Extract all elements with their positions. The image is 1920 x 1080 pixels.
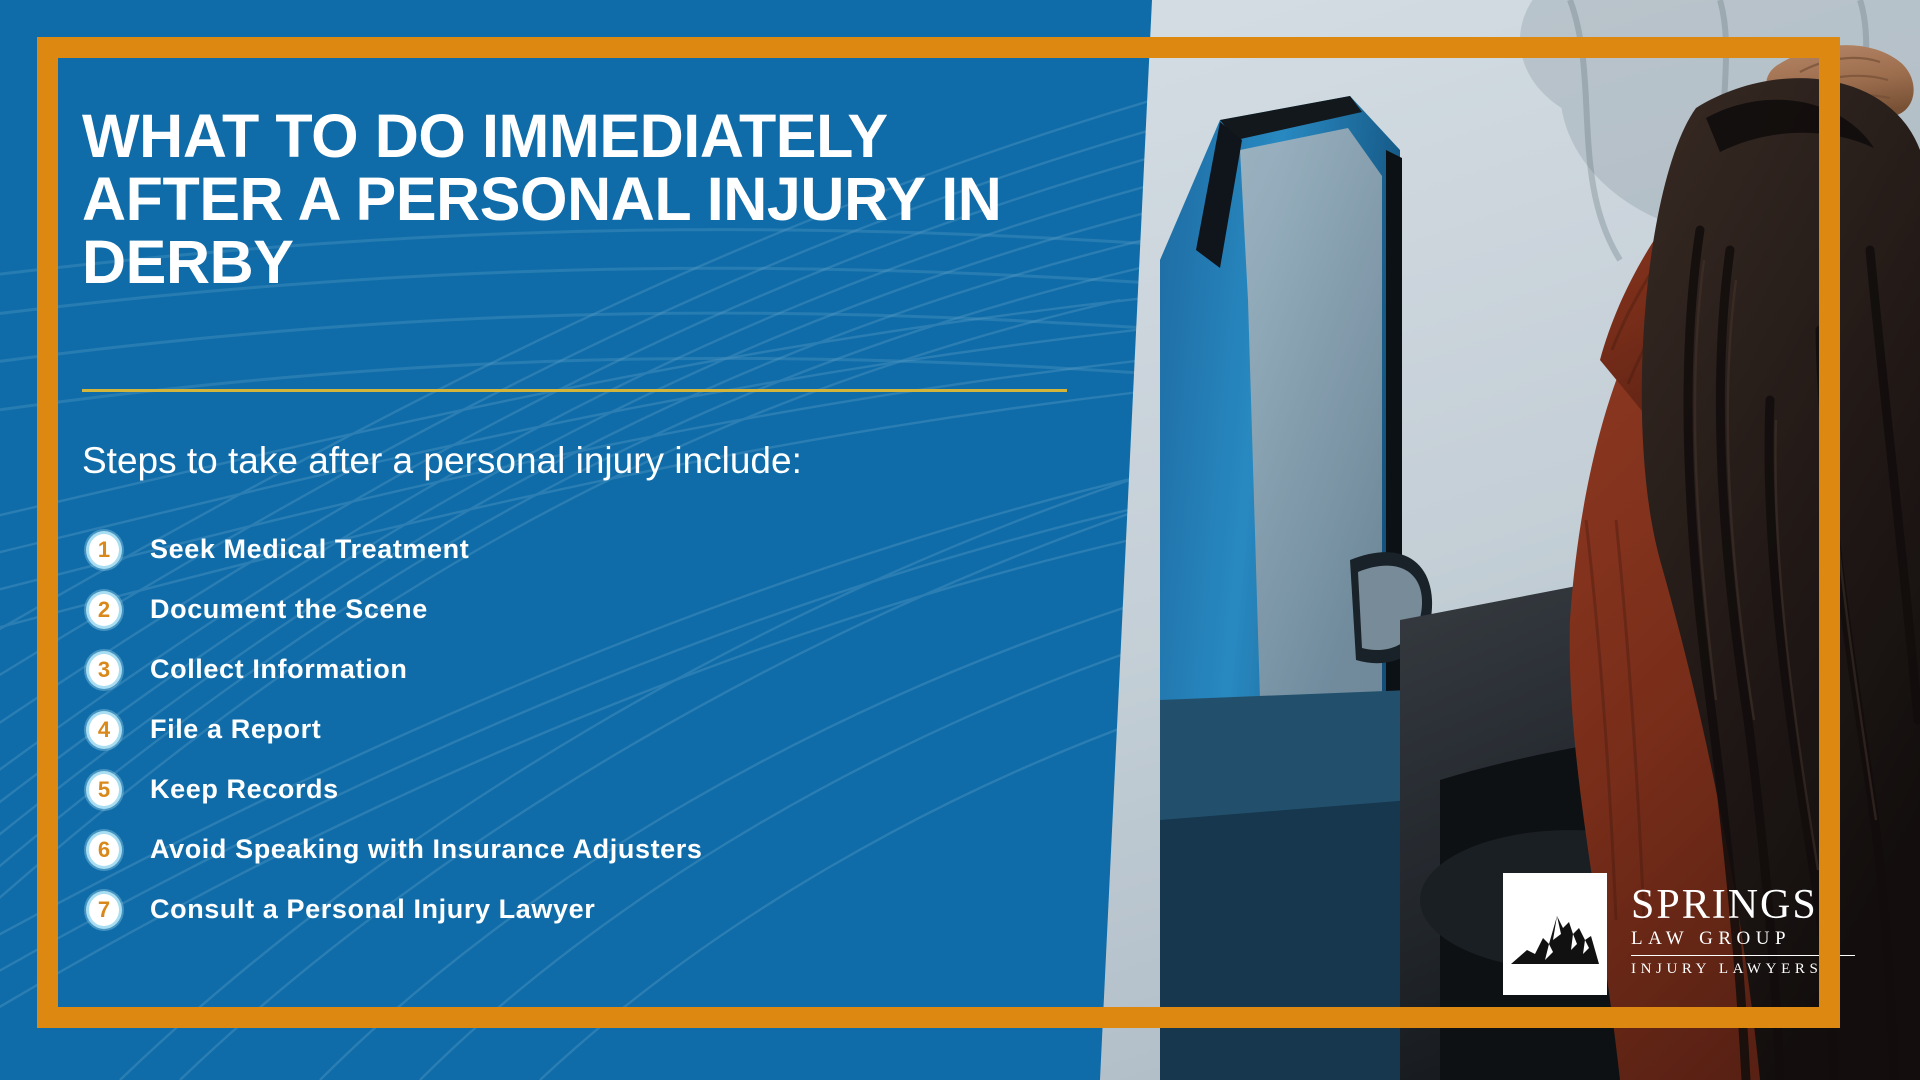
logo-subname: LAW GROUP (1631, 927, 1855, 950)
logo-tagline: INJURY LAWYERS (1631, 961, 1855, 978)
list-item: 1 Seek Medical Treatment (86, 525, 703, 574)
step-label: Collect Information (150, 654, 407, 685)
springs-law-group-logo[interactable]: SPRINGS LAW GROUP INJURY LAWYERS (1503, 873, 1863, 995)
step-label: Seek Medical Treatment (150, 534, 469, 565)
list-item: 7 Consult a Personal Injury Lawyer (86, 885, 703, 934)
step-label: Consult a Personal Injury Lawyer (150, 894, 595, 925)
banner-canvas: WHAT TO DO IMMEDIATELY AFTER A PERSONAL … (0, 0, 1920, 1080)
page-title: WHAT TO DO IMMEDIATELY AFTER A PERSONAL … (82, 105, 1042, 294)
step-number-badge: 7 (86, 891, 122, 929)
logo-name: SPRINGS (1631, 883, 1855, 927)
subtitle: Steps to take after a personal injury in… (82, 440, 802, 482)
list-item: 2 Document the Scene (86, 585, 703, 634)
step-number-badge: 3 (86, 651, 122, 689)
step-number-badge: 1 (86, 531, 122, 569)
list-item: 4 File a Report (86, 705, 703, 754)
step-label: File a Report (150, 714, 321, 745)
steps-list: 1 Seek Medical Treatment 2 Document the … (86, 525, 703, 945)
step-label: Keep Records (150, 774, 339, 805)
gold-divider (82, 389, 1067, 392)
list-item: 3 Collect Information (86, 645, 703, 694)
step-number-badge: 5 (86, 771, 122, 809)
list-item: 6 Avoid Speaking with Insurance Adjuster… (86, 825, 703, 874)
list-item: 5 Keep Records (86, 765, 703, 814)
logo-text-block: SPRINGS LAW GROUP INJURY LAWYERS (1631, 873, 1855, 978)
step-label: Document the Scene (150, 594, 428, 625)
mountain-icon (1509, 894, 1601, 974)
logo-rule (1631, 955, 1855, 956)
step-number-badge: 2 (86, 591, 122, 629)
step-number-badge: 4 (86, 711, 122, 749)
logo-mark-tile (1503, 873, 1607, 995)
content-column: WHAT TO DO IMMEDIATELY AFTER A PERSONAL … (82, 0, 1082, 1080)
step-label: Avoid Speaking with Insurance Adjusters (150, 834, 703, 865)
step-number-badge: 6 (86, 831, 122, 869)
